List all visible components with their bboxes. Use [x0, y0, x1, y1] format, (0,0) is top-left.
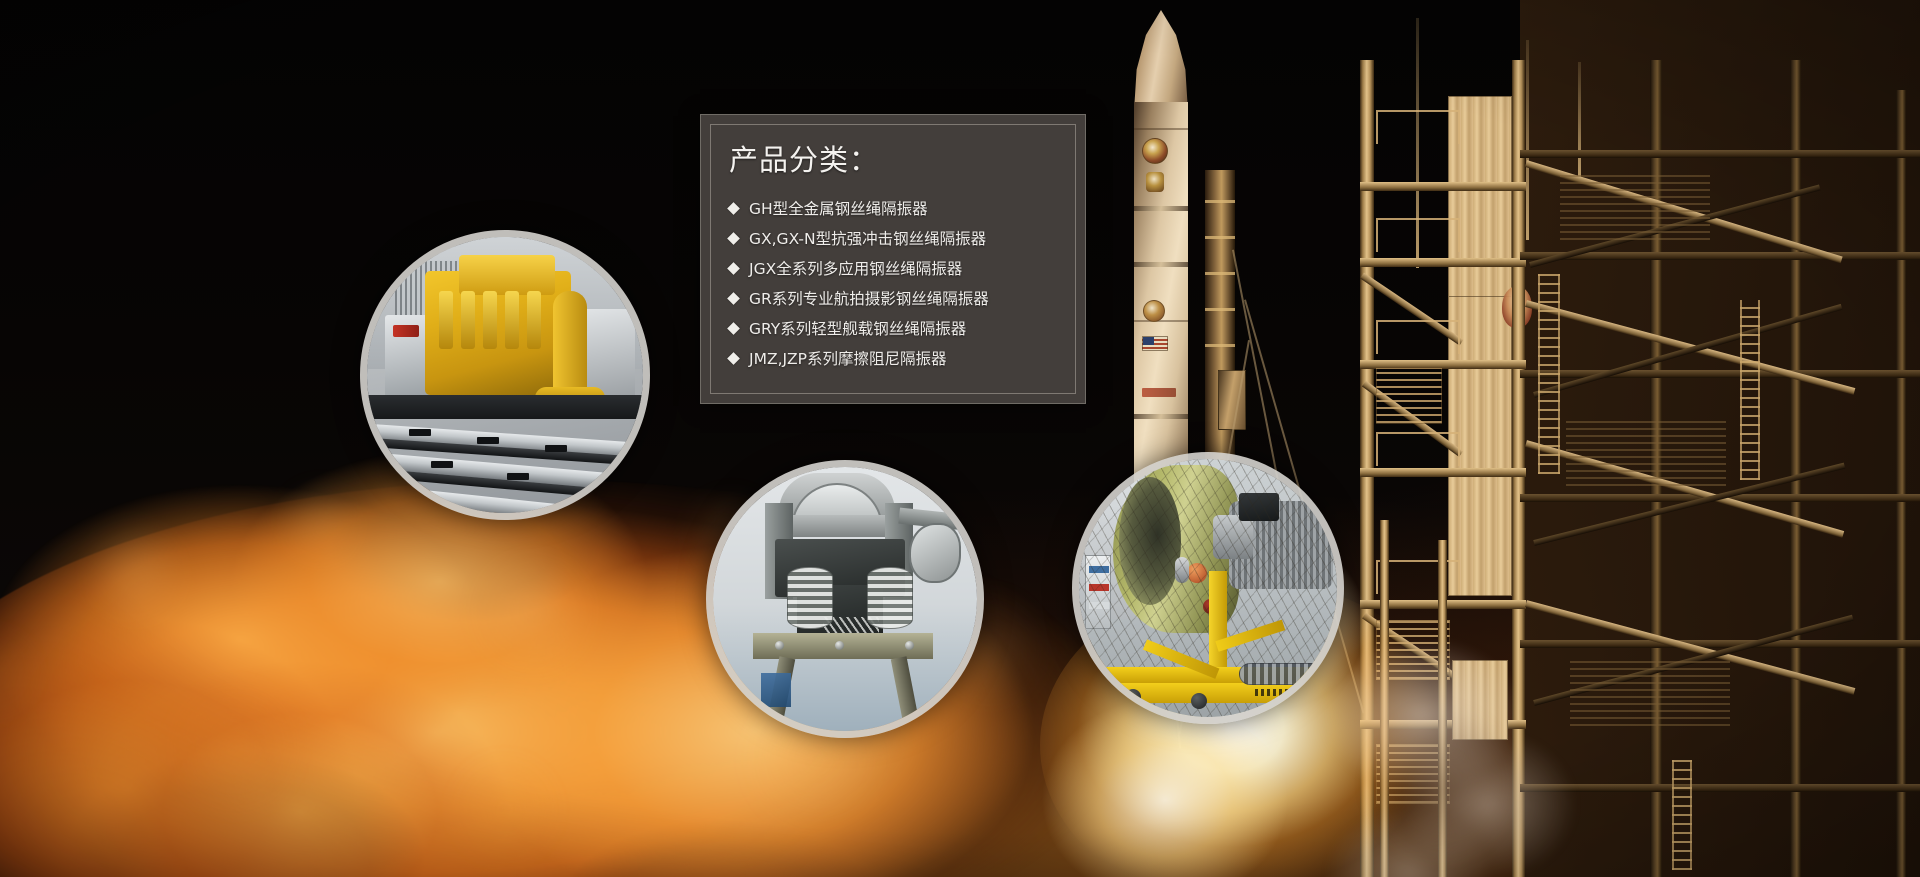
generator-cylinder-1 — [439, 291, 453, 349]
tower-platform-rail-2 — [1376, 218, 1460, 252]
product-category-panel: 产品分类： GH型全金属钢丝绳隔振器 GX,GX-N型抗强冲击钢丝绳隔振器 JG… — [700, 114, 1086, 404]
list-item[interactable]: GH型全金属钢丝绳隔振器 — [729, 193, 1067, 223]
steam-smoke-column — [1290, 640, 1620, 877]
rocket-seam-2 — [1134, 320, 1188, 322]
rocket-seam-1 — [1134, 128, 1188, 130]
diamond-bullet-icon — [727, 262, 740, 275]
rocket-mission-decal-2 — [1146, 172, 1164, 192]
rocket-mission-decal-1 — [1142, 138, 1168, 164]
list-item-label: GRY系列轻型舰载钢丝绳隔振器 — [749, 317, 966, 339]
tower-ladder-3 — [1672, 760, 1692, 870]
list-item[interactable]: JMZ,JZP系列摩擦阻尼隔振器 — [729, 343, 1067, 373]
rocket-band-1 — [1134, 206, 1188, 211]
list-item[interactable]: GR系列专业航拍摄影钢丝绳隔振器 — [729, 283, 1067, 313]
mast-rung-5 — [1205, 344, 1235, 347]
tower-rear-beam-1 — [1520, 150, 1920, 158]
generator-cylinder-2 — [461, 291, 475, 349]
generator-engine-top-cover — [459, 255, 555, 295]
cradle-wheel-1 — [1125, 689, 1141, 705]
cradle-vertical-post — [1209, 571, 1227, 667]
list-item-label: JMZ,JZP系列摩擦阻尼隔振器 — [749, 347, 947, 369]
tower-platform-rail-1 — [1376, 110, 1460, 144]
diamond-bullet-icon — [727, 232, 740, 245]
photo-circle-diesel-generator[interactable] — [360, 230, 650, 520]
generator-cylinder-3 — [483, 291, 497, 349]
tower-platform-rail-4 — [1376, 432, 1460, 466]
list-item[interactable]: GX,GX-N型抗强冲击钢丝绳隔振器 — [729, 223, 1067, 253]
isolator-bolt-1 — [775, 641, 784, 650]
generator-mount-tab-5 — [507, 473, 529, 480]
generator-mount-tab-4 — [431, 461, 453, 468]
tower-column-rear-2 — [1790, 60, 1801, 877]
cradle-wheel-2 — [1191, 693, 1207, 709]
rocket-brand-marking — [1142, 388, 1176, 397]
tower-rear-beam-3 — [1520, 370, 1920, 378]
rocket-nose-cone — [1132, 10, 1190, 106]
mast-rung-3 — [1205, 272, 1235, 275]
mast-rung-2 — [1205, 236, 1235, 239]
panel-title: 产品分类： — [729, 137, 879, 179]
banner-stage: 产品分类： GH型全金属钢丝绳隔振器 GX,GX-N型抗强冲击钢丝绳隔振器 JG… — [0, 0, 1920, 877]
list-item-label: JGX全系列多应用钢丝绳隔振器 — [749, 257, 962, 279]
generator-skid-base — [367, 395, 643, 419]
isolator-blue-equipment — [761, 673, 791, 707]
rocket-band-3 — [1134, 414, 1188, 419]
cradle-wheel-3 — [1301, 677, 1317, 693]
list-item-label: GH型全金属钢丝绳隔振器 — [749, 197, 928, 219]
generator-red-indicator — [393, 325, 419, 337]
diamond-bullet-icon — [727, 322, 740, 335]
tower-beam-1 — [1360, 182, 1526, 191]
photo-circle-wire-rope-isolator[interactable] — [706, 460, 984, 738]
generator-cylinder-4 — [505, 291, 519, 349]
mast-rung-1 — [1205, 200, 1235, 203]
tower-beam-4 — [1360, 468, 1526, 477]
tower-ladder-2 — [1740, 300, 1760, 480]
tower-grating-1 — [1376, 368, 1442, 424]
tower-antenna-3 — [1578, 62, 1581, 182]
wire-rope-coil-left — [787, 567, 833, 629]
list-item-label: GR系列专业航拍摄影钢丝绳隔振器 — [749, 287, 989, 309]
wire-rope-coil-right — [867, 567, 913, 629]
rocket-us-flag-decal — [1142, 336, 1168, 351]
rocket-band-2 — [1134, 262, 1188, 267]
list-item[interactable]: GRY系列轻型舰载钢丝绳隔振器 — [729, 313, 1067, 343]
tower-grating-rear-2 — [1566, 420, 1726, 486]
isolator-bolt-2 — [835, 641, 844, 650]
generator-cylinder-5 — [527, 291, 541, 349]
tower-antenna-2 — [1526, 40, 1529, 240]
rocket-mission-decal-3 — [1143, 300, 1165, 322]
photo-circle-turbine-engine[interactable] — [1072, 452, 1344, 724]
tower-grating-rear-1 — [1560, 170, 1710, 240]
isolator-bolt-3 — [905, 641, 914, 650]
list-item-label: GX,GX-N型抗强冲击钢丝绳隔振器 — [749, 227, 986, 249]
turbine-transport-cradle — [1105, 619, 1335, 703]
generator-mount-tab-3 — [545, 445, 567, 452]
generator-mount-tab-1 — [409, 429, 431, 436]
isolator-side-drum — [909, 523, 961, 583]
mast-rung-4 — [1205, 308, 1235, 311]
tower-column-rear-3 — [1896, 90, 1906, 877]
diamond-bullet-icon — [727, 352, 740, 365]
diamond-bullet-icon — [727, 202, 740, 215]
list-item[interactable]: JGX全系列多应用钢丝绳隔振器 — [729, 253, 1067, 283]
tower-ladder-1 — [1538, 274, 1560, 474]
tower-beam-2 — [1360, 258, 1526, 267]
generator-mount-tab-2 — [477, 437, 499, 444]
cradle-text-label — [1255, 689, 1309, 696]
diamond-bullet-icon — [727, 292, 740, 305]
product-category-list: GH型全金属钢丝绳隔振器 GX,GX-N型抗强冲击钢丝绳隔振器 JGX全系列多应… — [729, 193, 1067, 373]
tower-platform-rail-3 — [1376, 320, 1460, 354]
